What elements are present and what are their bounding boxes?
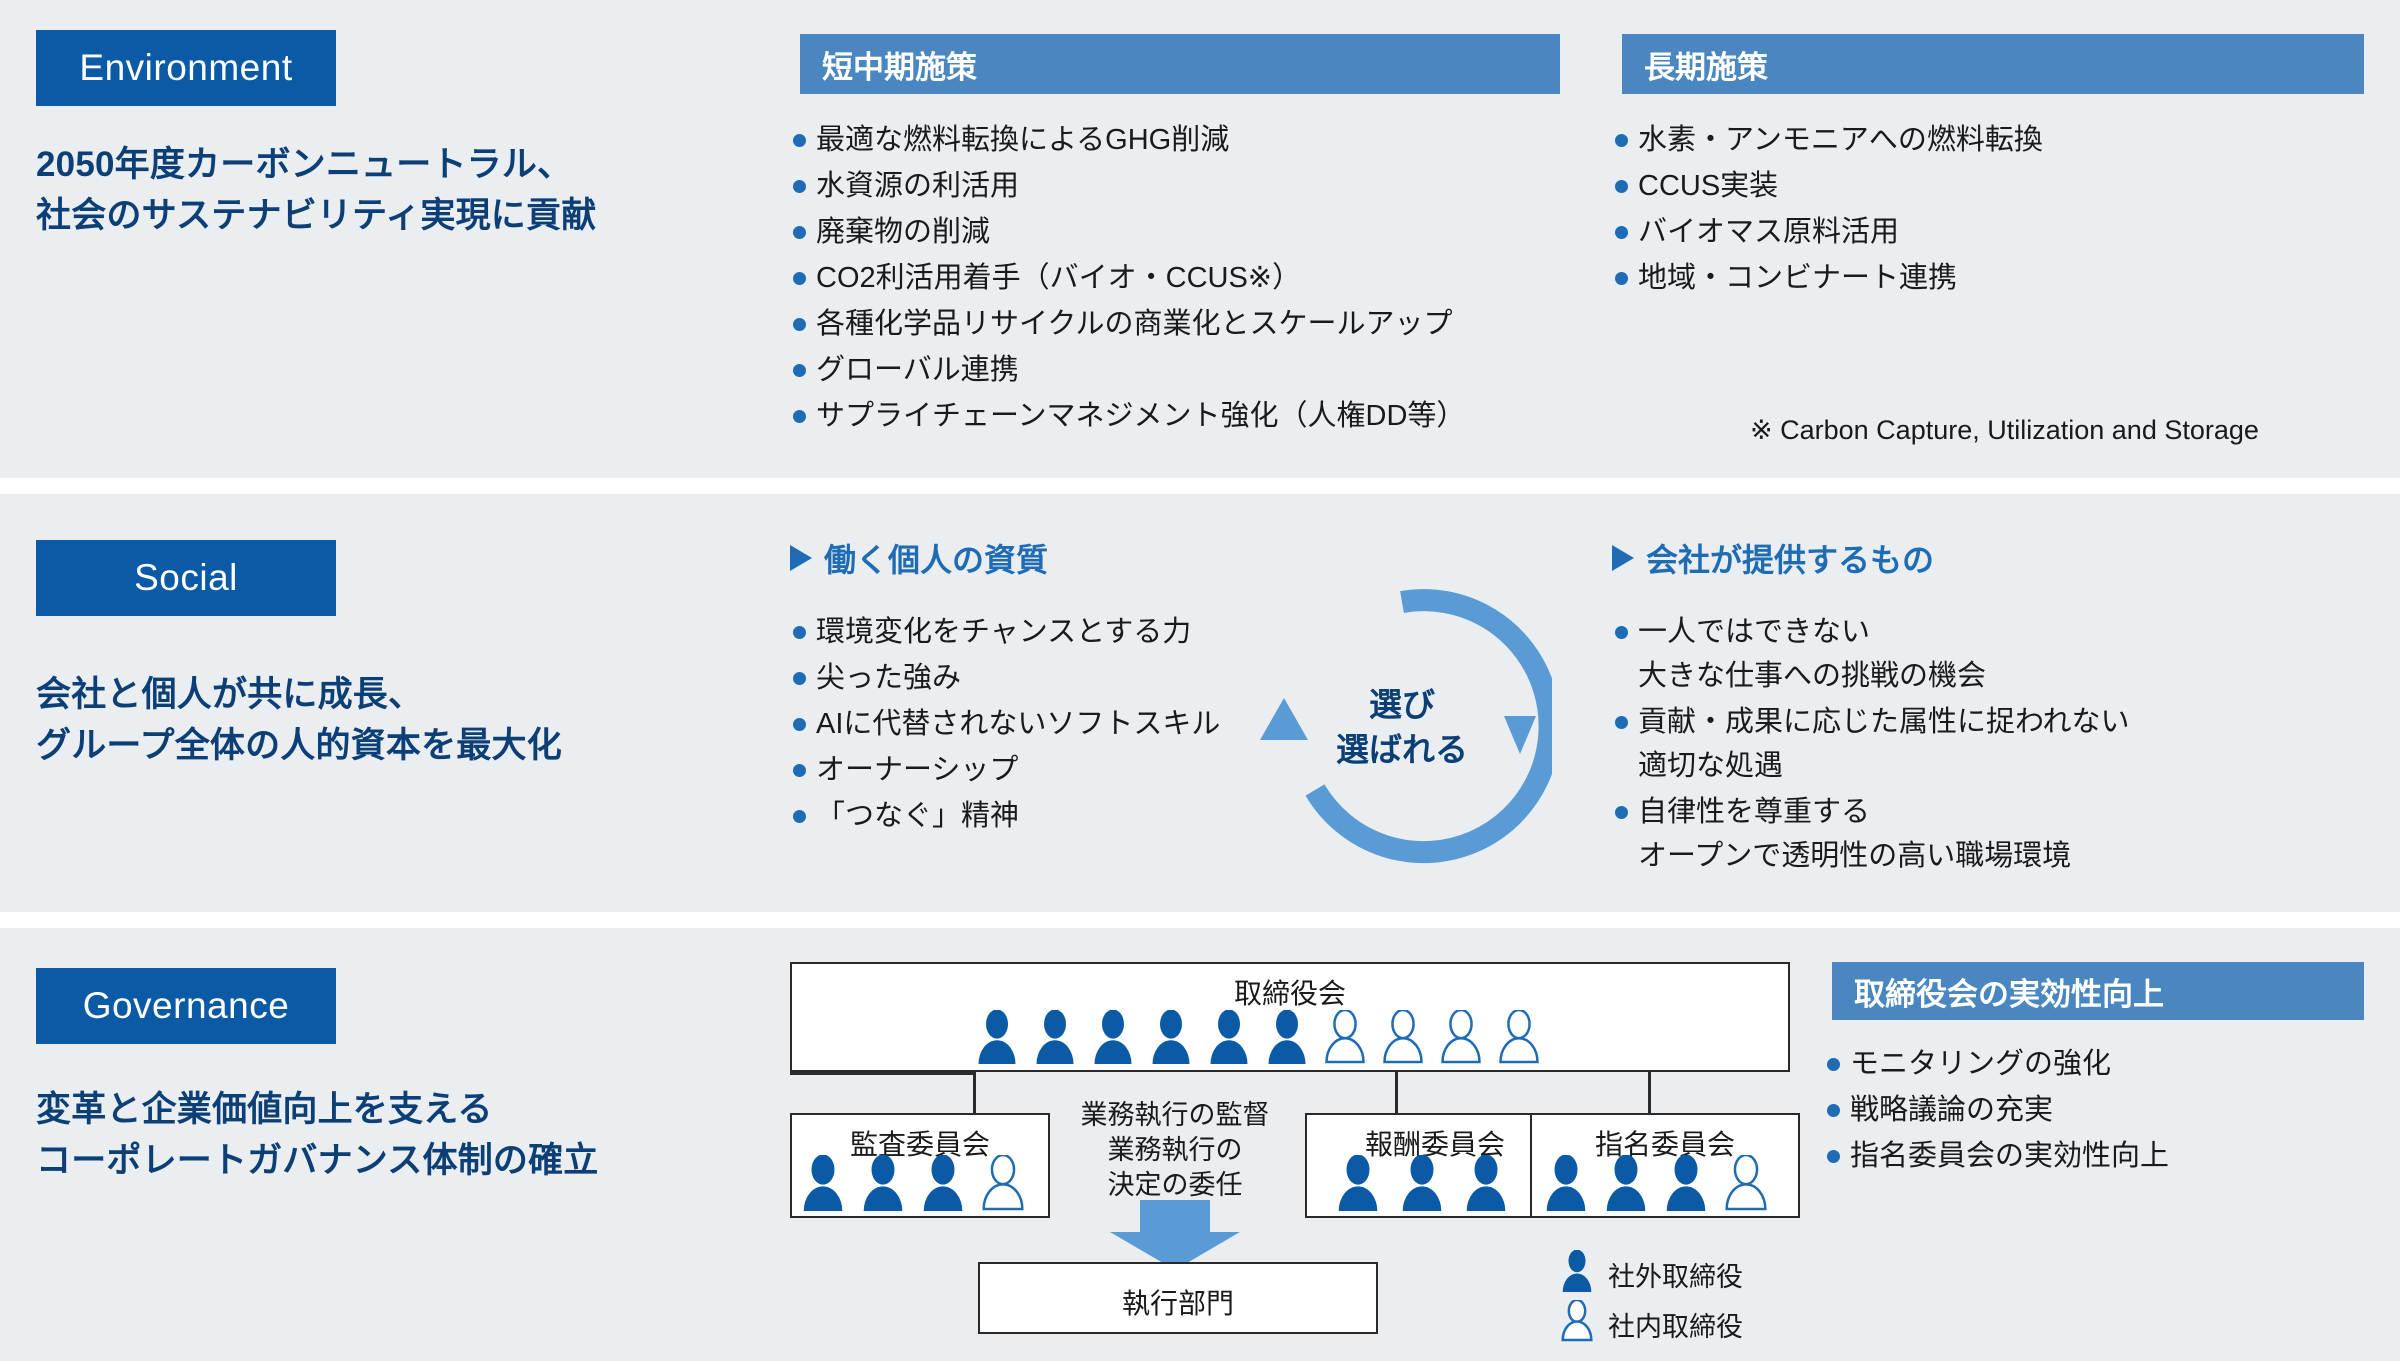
social-left-header-label: 働く個人の資質 <box>824 535 1048 581</box>
effectiveness-header-label: 取締役会の実効性向上 <box>1854 969 2164 1014</box>
board-people <box>975 1010 1541 1069</box>
committee-people-audit <box>800 1155 1026 1216</box>
list-item: 水資源の利活用 <box>790 164 1610 208</box>
person-filled-icon <box>1463 1155 1509 1216</box>
person-filled-icon <box>1560 1250 1594 1299</box>
governance-chip-label: Governance <box>83 985 290 1027</box>
list-item: サプライチェーンマネジメント強化（人権DD等） <box>790 394 1610 438</box>
social-right-list: 一人ではできない 大きな仕事への挑戦の機会貢献・成果に応じた属性に捉われない 適… <box>1612 610 2352 880</box>
list-item: 一人ではできない 大きな仕事への挑戦の機会 <box>1612 610 2352 698</box>
list-item: 指名委員会の実効性向上 <box>1824 1134 2384 1178</box>
list-item: 最適な燃料転換によるGHG削減 <box>790 118 1610 162</box>
list-item: 「つなぐ」精神 <box>790 794 1260 838</box>
person-outline-icon <box>1497 1010 1541 1069</box>
environment-description: 2050年度カーボンニュートラル、 社会のサステナビリティ実現に貢献 <box>36 140 756 242</box>
short-mid-header: 短中期施策 <box>800 34 1560 94</box>
list-item: 尖った強み <box>790 656 1260 700</box>
triangle-right-icon <box>1612 545 1634 571</box>
list-item: グローバル連携 <box>790 348 1610 392</box>
delegation-arrow-icon <box>1110 1200 1240 1270</box>
person-filled-icon <box>920 1155 966 1216</box>
legend-row-outside: 社外取締役 <box>1560 1250 1743 1299</box>
person-filled-icon <box>975 1010 1019 1069</box>
list-item: 廃棄物の削減 <box>790 210 1610 254</box>
list-item: 貢献・成果に応じた属性に捉われない 適切な処遇 <box>1612 700 2352 788</box>
list-item: 環境変化をチャンスとする力 <box>790 610 1260 654</box>
list-item: 自律性を尊重する オープンで透明性の高い職場環境 <box>1612 790 2352 878</box>
person-filled-icon <box>1543 1155 1589 1216</box>
committee-people-compensation <box>1335 1155 1509 1216</box>
person-outline-icon <box>1381 1010 1425 1069</box>
person-filled-icon <box>1663 1155 1709 1216</box>
person-filled-icon <box>1091 1010 1135 1069</box>
list-item: AIに代替されないソフトスキル <box>790 702 1260 746</box>
social-right-header: 会社が提供するもの <box>1612 535 1934 581</box>
environment-chip-label: Environment <box>79 47 292 89</box>
list-item: オーナーシップ <box>790 748 1260 792</box>
person-filled-icon <box>1207 1010 1251 1069</box>
social-right-header-label: 会社が提供するもの <box>1646 535 1934 581</box>
person-filled-icon <box>1033 1010 1077 1069</box>
social-left-list: 環境変化をチャンスとする力尖った強みAIに代替されないソフトスキルオーナーシップ… <box>790 610 1260 840</box>
triangle-right-icon <box>790 545 812 571</box>
list-item: バイオマス原料活用 <box>1612 210 2372 254</box>
list-item: 水素・アンモニアへの燃料転換 <box>1612 118 2372 162</box>
list-item: CCUS実装 <box>1612 164 2372 208</box>
effectiveness-header: 取締役会の実効性向上 <box>1832 962 2364 1020</box>
list-item: 地域・コンビナート連携 <box>1612 256 2372 300</box>
connector-audit-horizontal <box>790 1072 976 1075</box>
legend-row-inside: 社内取締役 <box>1560 1300 1743 1349</box>
person-outline-icon <box>1439 1010 1483 1069</box>
social-description: 会社と個人が共に成長、 グループ全体の人的資本を最大化 <box>36 670 756 772</box>
list-item: モニタリングの強化 <box>1824 1042 2384 1086</box>
committee-people-nomination <box>1543 1155 1769 1216</box>
governance-chip: Governance <box>36 968 336 1044</box>
effectiveness-list: モニタリングの強化戦略議論の充実指名委員会の実効性向上 <box>1824 1042 2384 1180</box>
short-mid-header-label: 短中期施策 <box>822 42 977 87</box>
person-outline-icon <box>980 1155 1026 1216</box>
long-term-measures-list: 水素・アンモニアへの燃料転換CCUS実装バイオマス原料活用地域・コンビナート連携 <box>1612 118 2372 302</box>
esg-strategy-slide: Environment 2050年度カーボンニュートラル、 社会のサステナビリテ… <box>0 0 2400 1361</box>
connector-board-to-nom <box>1648 1072 1651 1114</box>
person-outline-icon <box>1323 1010 1367 1069</box>
long-term-header: 長期施策 <box>1622 34 2364 94</box>
person-outline-icon <box>1723 1155 1769 1216</box>
social-left-header: 働く個人の資質 <box>790 535 1048 581</box>
ccus-footnote: ※ Carbon Capture, Utilization and Storag… <box>1750 415 2259 446</box>
legend-label-outside: 社外取締役 <box>1608 1255 1743 1294</box>
execution-label: 執行部門 <box>980 1282 1376 1322</box>
cycle-diagram: 選び 選ばれる <box>1252 578 1552 878</box>
execution-box: 執行部門 <box>978 1262 1378 1334</box>
board-label: 取締役会 <box>792 972 1788 1012</box>
delegation-text: 業務執行の監督 業務執行の 決定の委任 <box>1040 1098 1310 1203</box>
long-term-header-label: 長期施策 <box>1644 42 1768 87</box>
person-filled-icon <box>860 1155 906 1216</box>
connector-board-to-audit <box>973 1072 976 1114</box>
list-item: 各種化学品リサイクルの商業化とスケールアップ <box>790 302 1610 346</box>
person-outline-icon <box>1560 1300 1594 1349</box>
person-filled-icon <box>1149 1010 1193 1069</box>
connector-board-to-comp <box>1395 1072 1398 1114</box>
short-mid-measures-list: 最適な燃料転換によるGHG削減水資源の利活用廃棄物の削減CO2利活用着手（バイオ… <box>790 118 1610 441</box>
person-filled-icon <box>1603 1155 1649 1216</box>
person-filled-icon <box>1335 1155 1381 1216</box>
person-filled-icon <box>800 1155 846 1216</box>
environment-chip: Environment <box>36 30 336 106</box>
social-chip-label: Social <box>134 557 238 599</box>
person-filled-icon <box>1399 1155 1445 1216</box>
list-item: CO2利活用着手（バイオ・CCUS※） <box>790 256 1610 300</box>
governance-description: 変革と企業価値向上を支える コーポレートガバナンス体制の確立 <box>36 1085 796 1187</box>
list-item: 戦略議論の充実 <box>1824 1088 2384 1132</box>
legend-label-inside: 社内取締役 <box>1608 1305 1743 1344</box>
person-filled-icon <box>1265 1010 1309 1069</box>
social-chip: Social <box>36 540 336 616</box>
